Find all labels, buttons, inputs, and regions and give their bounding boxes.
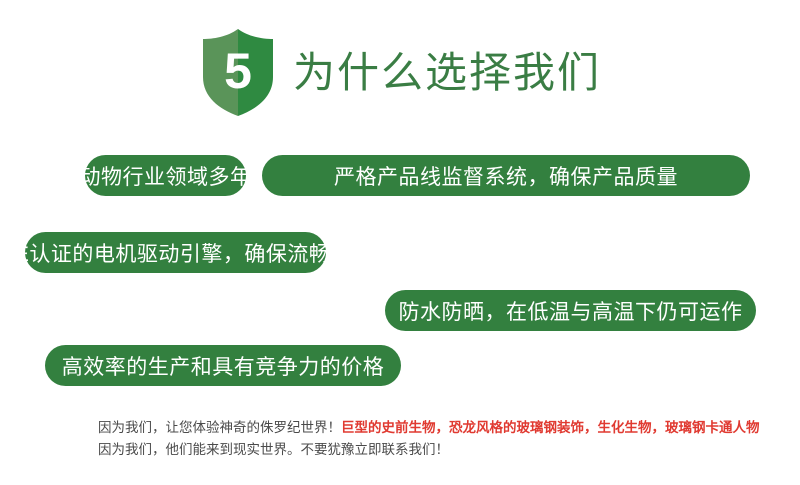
footer-text-block: 因为我们，让您体验神奇的侏罗纪世界！巨型的史前生物，恐龙风格的玻璃钢装饰，生化生…: [98, 417, 788, 461]
footer-line-1: 因为我们，让您体验神奇的侏罗纪世界！巨型的史前生物，恐龙风格的玻璃钢装饰，生化生…: [98, 417, 788, 439]
page-header: 5 为什么选择我们: [0, 22, 800, 127]
feature-pill-5: 高效率的生产和具有竞争力的价格: [45, 345, 401, 386]
feature-pill-2: 严格产品线监督系统，确保产品质量: [262, 155, 750, 196]
feature-pill-1: 电子动物行业领域多年经验: [85, 155, 246, 196]
page-title: 为什么选择我们: [293, 52, 601, 98]
feature-pill-3: 使用CE认证的电机驱动引擎，确保流畅的动作: [25, 232, 326, 273]
footer-line-2: 因为我们，他们能来到现实世界。不要犹豫立即联系我们！: [98, 439, 788, 461]
shield-icon: 5: [199, 27, 277, 123]
badge-number: 5: [199, 27, 277, 115]
footer-line-1-plain: 因为我们，让您体验神奇的侏罗纪世界！: [98, 420, 341, 435]
feature-pill-4: 防水防晒，在低温与高温下仍可运作: [385, 290, 756, 331]
footer-line-1-highlight: 巨型的史前生物，恐龙风格的玻璃钢装饰，生化生物，玻璃钢卡通人物: [341, 420, 760, 435]
